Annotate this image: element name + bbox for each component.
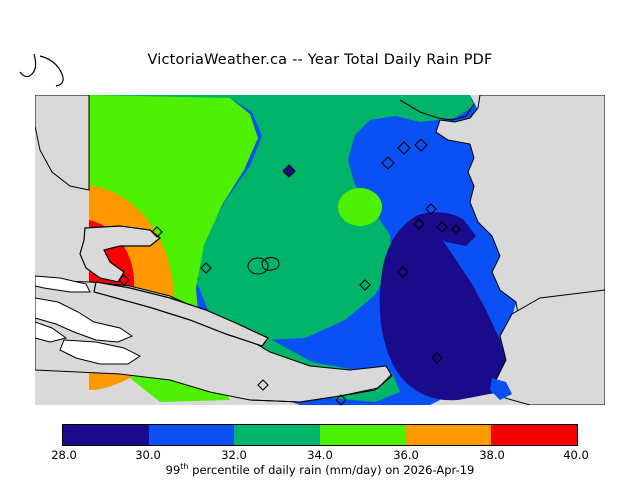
colorbar[interactable] xyxy=(62,424,578,446)
band-34-36-patch xyxy=(338,188,382,226)
rain-contour-map xyxy=(0,40,640,410)
coastline-outside-topleft xyxy=(20,54,63,86)
colorbar-tick: 36.0 xyxy=(393,448,419,462)
colorbar-tick: 32.0 xyxy=(221,448,247,462)
colorbar-section: 28.0 30.0 32.0 34.0 36.0 38.0 40.0 99th … xyxy=(0,422,640,480)
caption-rest: percentile of daily rain (mm/day) on 202… xyxy=(189,463,475,477)
colorbar-segment-28-30[interactable] xyxy=(63,425,149,445)
colorbar-segment-30-32[interactable] xyxy=(149,425,235,445)
caption-prefix: 99 xyxy=(166,463,181,477)
colorbar-segment-36-38[interactable] xyxy=(406,425,492,445)
colorbar-tick-labels: 28.0 30.0 32.0 34.0 36.0 38.0 40.0 xyxy=(0,448,640,462)
colorbar-tick: 38.0 xyxy=(479,448,505,462)
colorbar-segment-38-40[interactable] xyxy=(491,425,577,445)
screenshot-root: VictoriaWeather.ca -- Year Total Daily R… xyxy=(0,0,640,480)
colorbar-segment-34-36[interactable] xyxy=(320,425,406,445)
colorbar-segment-32-34[interactable] xyxy=(234,425,320,445)
colorbar-tick: 28.0 xyxy=(51,448,77,462)
colorbar-tick: 30.0 xyxy=(135,448,161,462)
caption-ordinal-suffix: th xyxy=(180,462,188,471)
colorbar-tick: 40.0 xyxy=(563,448,589,462)
colorbar-caption: 99th percentile of daily rain (mm/day) o… xyxy=(0,462,640,477)
colorbar-tick: 34.0 xyxy=(307,448,333,462)
